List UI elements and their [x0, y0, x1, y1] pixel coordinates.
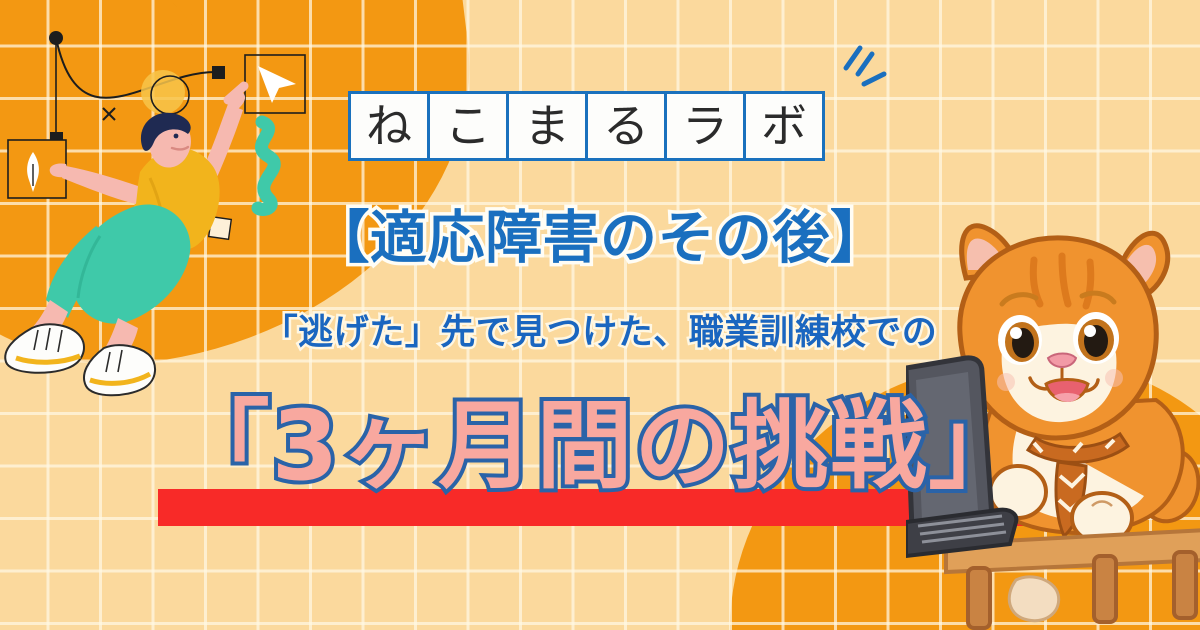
headline-emphasis: 「3ヶ月間の挑戦」 [0, 396, 1200, 497]
sparkle-line-2 [858, 54, 872, 74]
site-logo: ね こ ま る ラ ボ [348, 91, 825, 161]
desk-leg-right [1174, 552, 1196, 618]
logo-char-3: ま [506, 91, 588, 161]
bezier-node-square-b [212, 66, 225, 79]
sparkle-line-1 [846, 48, 860, 68]
headline-main: 【適応障害のその後】 [0, 192, 1200, 274]
sparkle-decoration [836, 40, 906, 110]
headline-group: 【適応障害のその後】 [0, 192, 1200, 274]
plus-mark [103, 108, 115, 120]
headline-subtitle: 「逃げた」先で見つけた、職業訓練校での [0, 304, 1200, 355]
logo-char-6: ボ [743, 91, 825, 161]
cursor-arrow-icon [245, 55, 305, 113]
sparkle-line-3 [864, 74, 884, 84]
cat-foot [1009, 577, 1058, 621]
logo-char-4: る [585, 91, 667, 161]
logo-char-5: ラ [664, 91, 746, 161]
bezier-node-round [49, 31, 63, 45]
logo-char-2: こ [427, 91, 509, 161]
desk-leg-mid [1094, 556, 1116, 622]
thumbnail-canvas: ね こ ま る ラ ボ 【適応障害のその後】 「逃げた」先で見つけた、職業訓練校… [0, 0, 1200, 630]
logo-char-1: ね [348, 91, 430, 161]
cat-nose [1048, 354, 1076, 368]
desk-leg-left [968, 568, 990, 628]
